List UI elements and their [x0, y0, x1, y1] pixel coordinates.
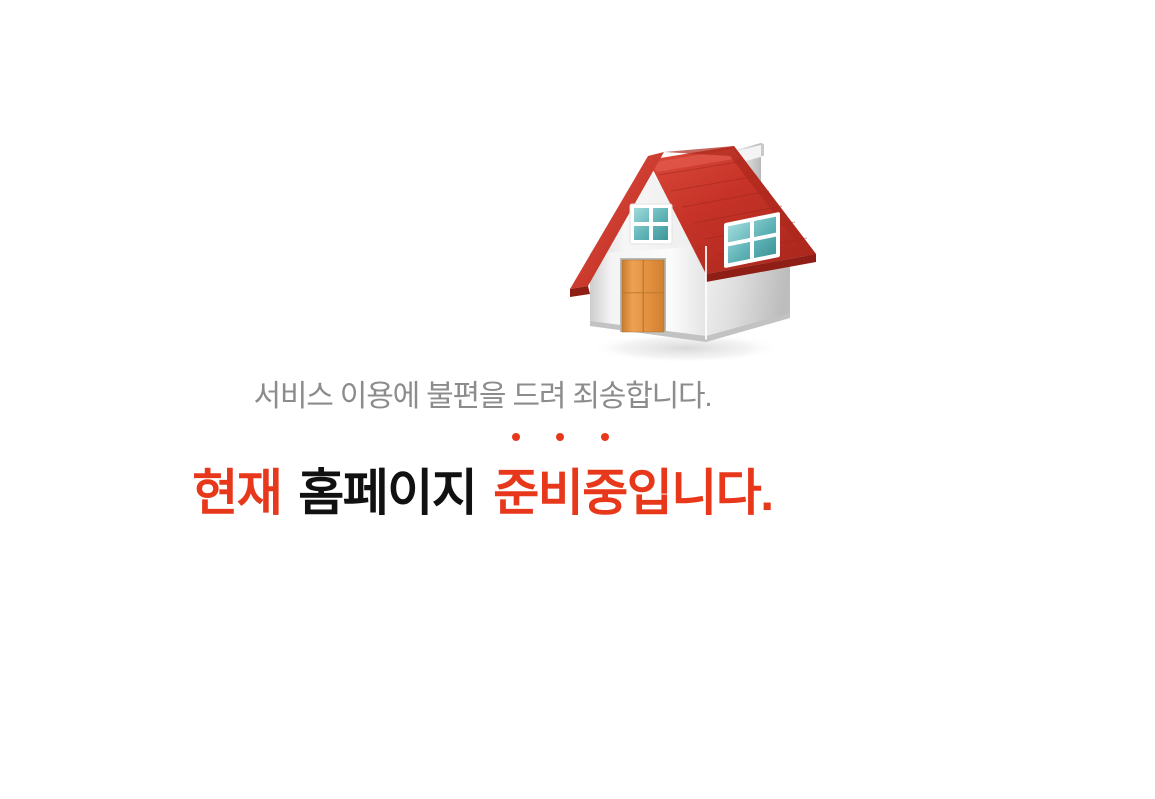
headline-segment-homepage: 홈페이지: [298, 463, 476, 523]
emphasis-dots: [493, 430, 627, 444]
house-icon: [558, 126, 818, 366]
page-root: 서비스 이용에 불편을 드려 죄송합니다. 현재홈페이지준비중입니다.: [0, 0, 1155, 799]
content-block: 서비스 이용에 불편을 드려 죄송합니다. 현재홈페이지준비중입니다.: [0, 0, 965, 799]
emphasis-dot: [512, 433, 520, 441]
gable-window-icon: [630, 204, 672, 244]
emphasis-dot: [601, 433, 609, 441]
wall-corner-highlight: [705, 246, 707, 340]
headline: 현재홈페이지준비중입니다.: [0, 463, 965, 523]
headline-segment-junbijung: 준비중: [493, 463, 627, 523]
door-icon: [620, 258, 666, 332]
house-illustration: [558, 126, 818, 366]
emphasis-dot: [556, 433, 564, 441]
apology-text: 서비스 이용에 불편을 드려 죄송합니다.: [0, 378, 965, 416]
headline-segment-junbijung-text: 준비중: [493, 465, 627, 521]
headline-segment-imnida: 입니다.: [627, 463, 773, 523]
headline-segment-hyeonjae: 현재: [192, 463, 281, 523]
